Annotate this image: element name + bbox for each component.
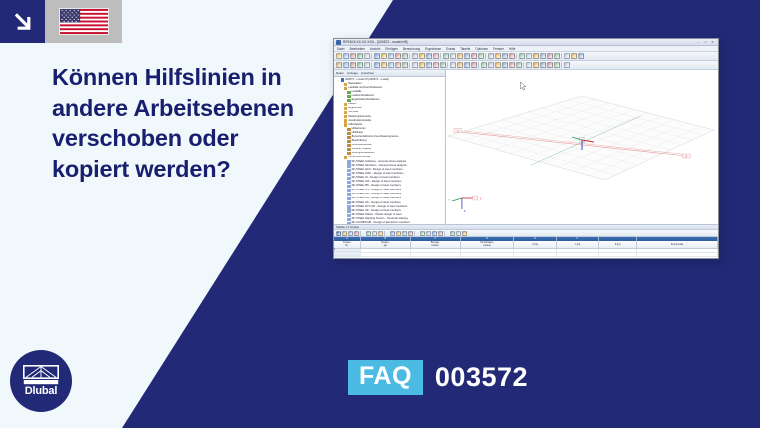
tree-node-icon (347, 136, 350, 139)
tree-node-icon (347, 185, 350, 188)
toolbar-button-3[interactable] (354, 231, 359, 236)
tree-node-icon (347, 144, 350, 147)
tree-node-label: RF-STEEL BS - Design of steel members (352, 185, 401, 188)
table-col-title-line: Z [m] (615, 244, 620, 247)
rfem-application-window: RFEM 5.XX.XX.XXX - [000572 - model.rf5] … (333, 38, 719, 259)
toolbar-button-6[interactable] (374, 62, 380, 68)
tree-node-label: ZUSATZMODULE (348, 156, 370, 159)
table-cell[interactable] (361, 253, 411, 256)
toolbar-button-14[interactable] (426, 53, 432, 59)
tree-node-label: RF-STEEL NTC-DF - Design of steel member… (352, 206, 408, 209)
toolbar-separator (516, 53, 518, 59)
tree-node-icon (347, 91, 350, 94)
menu-item-6[interactable]: Extras (446, 47, 455, 51)
arrow-badge[interactable] (0, 0, 45, 43)
toolbar-button-14[interactable] (426, 62, 432, 68)
toolbar-button-2[interactable] (350, 53, 356, 59)
toolbar-button-0[interactable] (336, 62, 342, 68)
corner-badges (0, 0, 122, 43)
toolbar-button-10[interactable] (396, 231, 401, 236)
table-col-title-line: system (483, 245, 491, 248)
minimize-button[interactable]: – (696, 40, 701, 45)
faq-number: 003572 (435, 364, 528, 391)
toolbar-separator (561, 53, 563, 59)
toolbar-button-2[interactable] (348, 231, 353, 236)
toolbar-button-30[interactable] (526, 53, 532, 59)
table-pane: Tabelle 1.1 Knoten ABCDEF KnotenNr.Knote… (334, 224, 718, 259)
toolbar-separator (447, 62, 449, 68)
toolbar-button-31[interactable] (533, 53, 539, 59)
tree-node-label: Ausdruckprotokolle (348, 120, 371, 123)
toolbar-button-19[interactable] (450, 231, 455, 236)
toolbar-button-15[interactable] (433, 62, 439, 68)
toolbar-button-7[interactable] (381, 62, 387, 68)
table-col-title-line: Kommentar (671, 244, 683, 247)
app-title-text: RFEM 5.XX.XX.XXX - [000572 - model.rf5] (343, 40, 407, 44)
toolbar-button-5[interactable] (366, 231, 371, 236)
table-col-title-line: Y [m] (575, 244, 581, 247)
toolbar-button-20[interactable] (456, 231, 461, 236)
tree-node-label: RF-STEEL Warping Torsion - Torsional war… (352, 218, 408, 221)
menu-item-8[interactable]: Optionen (475, 47, 488, 51)
toolbar-button-18[interactable] (450, 53, 456, 59)
tree-node-label: RF-STEEL SIA - Design of steel members (352, 181, 402, 184)
tree-node[interactable]: RF-ALUMINIUM - Design of aluminium membe… (335, 221, 445, 224)
tree-node-icon (347, 140, 350, 143)
tree-node-icon (347, 205, 350, 208)
toolbar-button-10[interactable] (402, 62, 408, 68)
table-cell[interactable] (361, 249, 411, 252)
tree-node-label: Hilfsobjekte (348, 124, 362, 127)
table-cell[interactable] (411, 249, 461, 252)
logo-wordmark: Dlubal (25, 386, 57, 397)
tree-node-label: Hilfsebenen (352, 128, 366, 131)
table-col-title[interactable]: Y [m] (557, 241, 599, 248)
tree-node-icon (347, 132, 350, 135)
tree-node-label: RF-STEEL AISC - Design of steel members (352, 173, 404, 176)
tree-node-label: Lastfälle und Kombinationen (348, 87, 382, 90)
toolbar-button-1[interactable] (343, 53, 349, 59)
menu-item-0[interactable]: Datei (337, 47, 344, 51)
navigator-tree: -000572 - model.rf5 [000572 - model]Basi… (334, 77, 445, 224)
menu-item-3[interactable]: Einfügen (385, 47, 398, 51)
table-cell[interactable] (637, 249, 718, 252)
tree-expander-icon[interactable]: - (340, 124, 343, 127)
table-col-title[interactable]: Kommentar (637, 241, 718, 248)
menu-item-5[interactable]: Ergebnisse (425, 47, 441, 51)
tree-node-label: RF-STEEL IS - Design of steel members (352, 177, 400, 180)
navigator-tab-0[interactable]: Daten (336, 71, 344, 75)
table-rows: 1 (334, 249, 718, 259)
toolbar-separator (371, 53, 373, 59)
table-cell[interactable] (514, 253, 556, 256)
tree-expander-icon[interactable]: - (340, 87, 343, 90)
tree-node-icon (347, 128, 350, 131)
table-cell[interactable] (461, 249, 515, 252)
tree-node-icon (347, 181, 350, 184)
toolbar-button-27[interactable] (509, 53, 515, 59)
model-viewport[interactable]: 1 2 (446, 70, 718, 224)
navigator-tab-1[interactable]: Anzeige (347, 71, 358, 75)
toolbar-button-38[interactable] (578, 53, 584, 59)
tree-node-icon (347, 95, 350, 98)
table-header-titles: KnotenNr.Knoten-typBezugs-knotenKoordina… (334, 241, 718, 249)
toolbar-separator (384, 231, 389, 236)
toolbar-button-26[interactable] (502, 53, 508, 59)
tree-node-icon (347, 197, 350, 200)
menu-item-10[interactable]: Hilfe (509, 47, 515, 51)
table-cell[interactable] (637, 253, 718, 256)
tree-node-label: RF-ALUMINIUM - Design of aluminium membe… (352, 222, 410, 224)
table-cell[interactable] (461, 257, 515, 259)
table-col-title[interactable]: Z [m] (599, 241, 637, 248)
toolbar-separator (444, 231, 449, 236)
tree-node-label: Hilfslinien (352, 132, 364, 135)
toolbar-separator (561, 62, 563, 68)
table-cell[interactable] (361, 257, 411, 259)
toolbar-separator (523, 62, 525, 68)
truss-frame-icon (23, 365, 59, 385)
tree-node-label: Lasten (348, 103, 356, 106)
toolbar-button-21[interactable] (462, 231, 467, 236)
tree-node-icon (347, 173, 350, 176)
tree-node-label: RF-STEEL Plastic - Plastic design of ste… (352, 214, 402, 217)
table-cell[interactable] (334, 257, 361, 259)
toolbar-button-21[interactable] (471, 62, 477, 68)
tree-node-label: RF-STEEL CA - Design of steel members (352, 197, 401, 200)
toolbar-separator (371, 62, 373, 68)
toolbar-separator (414, 231, 419, 236)
tree-node-icon (341, 78, 344, 81)
menu-item-4[interactable]: Berechnung (403, 47, 420, 51)
toolbar-button-6[interactable] (372, 231, 377, 236)
tree-node-icon (347, 148, 350, 151)
navigator-tabs: DatenAnzeigeAnsichten (334, 70, 445, 77)
window-buttons: – □ ✕ (696, 40, 716, 45)
toolbar-button-22[interactable] (478, 53, 484, 59)
toolbar-button-24[interactable] (488, 53, 494, 59)
menu-item-9[interactable]: Fenster (493, 47, 504, 51)
svg-text:X: X (480, 196, 482, 200)
toolbar-button-8[interactable] (388, 62, 394, 68)
tree-node-icon (344, 83, 347, 86)
dlubal-logo[interactable]: Dlubal (10, 350, 72, 412)
toolbar-button-16[interactable] (432, 231, 437, 236)
tree-node-icon (347, 164, 350, 167)
toolbar-button-21[interactable] (471, 53, 477, 59)
app-body: DatenAnzeigeAnsichten -000572 - model.rf… (334, 70, 718, 224)
table-cell[interactable] (557, 253, 599, 256)
tree-node-label: Lastfälle (352, 91, 362, 94)
toolbar-button-15[interactable] (426, 231, 431, 236)
app-toolbar-primary (334, 52, 718, 61)
page-title: Können Hilfslinien in andere Arbeitseben… (52, 62, 310, 184)
toolbar-separator (478, 62, 480, 68)
toolbar-button-4[interactable] (364, 62, 370, 68)
tree-node-label: RF-STEEL CS - Design of steel members (352, 189, 401, 192)
toolbar-button-32[interactable] (540, 62, 546, 68)
toolbar-button-34[interactable] (554, 53, 560, 59)
tree-node-icon (347, 177, 350, 180)
table-row[interactable] (334, 257, 718, 259)
toolbar-button-33[interactable] (547, 62, 553, 68)
navigator-panel: DatenAnzeigeAnsichten -000572 - model.rf… (334, 70, 446, 224)
toolbar-button-19[interactable] (457, 62, 463, 68)
table-cell[interactable] (557, 249, 599, 252)
table-col-title[interactable]: Knoten-typ (361, 241, 411, 248)
tree-node-icon (347, 201, 350, 204)
toolbar-button-20[interactable] (464, 62, 470, 68)
navigator-tab-2[interactable]: Ansichten (361, 71, 374, 75)
tree-node-icon (344, 103, 347, 106)
close-button[interactable]: ✕ (710, 40, 715, 45)
tree-node-label: RF-STEEL Surfaces - General stress analy… (352, 160, 407, 163)
arrow-down-right-icon (11, 10, 35, 34)
tree-node-icon (347, 193, 350, 196)
toolbar-button-10[interactable] (402, 53, 408, 59)
tree-node-label: RF-STEEL AS - Design of steel members (352, 201, 401, 204)
model-3d-scene: 1 2 (446, 70, 718, 224)
maximize-button[interactable]: □ (703, 40, 708, 45)
toolbar-button-3[interactable] (357, 62, 363, 68)
language-flag-badge[interactable] (45, 0, 122, 43)
menu-item-2[interactable]: Ansicht (370, 47, 380, 51)
table-col-title[interactable]: Koordinaten-system (461, 241, 515, 248)
tree-node-label: Dimensionslinien (352, 144, 372, 147)
toolbar-button-20[interactable] (464, 53, 470, 59)
menu-item-1[interactable]: Bearbeiten (349, 47, 364, 51)
table-cell[interactable] (557, 257, 599, 259)
app-toolbar-secondary (334, 61, 718, 70)
tree-node-label: Beschriftung (352, 140, 367, 143)
toolbar-button-8[interactable] (388, 53, 394, 59)
table-cell[interactable] (599, 257, 637, 259)
toolbar-button-7[interactable] (378, 231, 383, 236)
toolbar-button-4[interactable] (364, 53, 370, 59)
toolbar-button-15[interactable] (433, 53, 439, 59)
toolbar-button-9[interactable] (395, 53, 401, 59)
toolbar-button-18[interactable] (450, 62, 456, 68)
tree-node-icon (347, 160, 350, 163)
toolbar-button-36[interactable] (564, 62, 570, 68)
tree-node-label: Hintergrundebenen (352, 152, 375, 155)
table-grid[interactable]: ABCDEF KnotenNr.Knoten-typBezugs-knotenK… (334, 237, 718, 259)
tree-node-icon (347, 189, 350, 192)
tree-node-label: RF-STEEL GB - Design of steel members (352, 193, 402, 196)
toolbar-button-13[interactable] (419, 62, 425, 68)
faq-badge: FAQ (348, 360, 423, 395)
table-cell[interactable]: 1 (334, 249, 361, 252)
toolbar-button-17[interactable] (438, 231, 443, 236)
table-cell[interactable] (514, 257, 556, 259)
faq-footer: FAQ 003572 (348, 360, 528, 395)
table-col-title-line: Nr. (345, 245, 348, 248)
toolbar-button-32[interactable] (540, 53, 546, 59)
toolbar-button-25[interactable] (495, 53, 501, 59)
toolbar-button-7[interactable] (381, 53, 387, 59)
tree-node-label: Ergebniskombinationen (352, 99, 380, 102)
faq-slide: Können Hilfslinien in andere Arbeitseben… (0, 0, 760, 428)
toolbar-button-12[interactable] (408, 231, 413, 236)
tree-node-label: Mittelungsbereiche (348, 115, 371, 118)
toolbar-button-33[interactable] (547, 53, 553, 59)
toolbar-button-1[interactable] (342, 231, 347, 236)
toolbar-button-0[interactable] (336, 231, 341, 236)
tree-node-icon (344, 87, 347, 90)
tree-node-label: Benutzerdefinierte Koordinatensysteme (352, 136, 399, 139)
toolbar-button-12[interactable] (412, 53, 418, 59)
toolbar-separator (440, 53, 442, 59)
table-cell[interactable] (599, 249, 637, 252)
tree-node-icon (344, 123, 347, 126)
toolbar-button-12[interactable] (412, 62, 418, 68)
app-titlebar: RFEM 5.XX.XX.XXX - [000572 - model.rf5] … (334, 39, 718, 46)
toolbar-button-23[interactable] (481, 62, 487, 68)
table-col-title[interactable]: KnotenNr. (334, 241, 361, 248)
toolbar-button-13[interactable] (419, 53, 425, 59)
tree-node-icon (347, 214, 350, 217)
tree-node-icon (347, 222, 350, 224)
tree-node-icon (347, 218, 350, 221)
toolbar-button-37[interactable] (571, 53, 577, 59)
table-col-title-line: X [m] (532, 244, 538, 247)
toolbar-separator (485, 53, 487, 59)
toolbar-button-31[interactable] (533, 62, 539, 68)
toolbar-button-27[interactable] (509, 62, 515, 68)
tree-node-label: RF-STEEL EC3 - Design of steel members (352, 169, 403, 172)
toolbar-button-36[interactable] (564, 53, 570, 59)
toolbar-button-28[interactable] (516, 62, 522, 68)
arrow-cursor (520, 82, 525, 90)
table-cell[interactable] (599, 253, 637, 256)
tree-node-label: Lastkombinationen (352, 95, 375, 98)
tree-node-label: Basisdaten (348, 83, 361, 86)
toolbar-button-26[interactable] (502, 62, 508, 68)
toolbar-separator (360, 231, 365, 236)
toolbar-button-25[interactable] (495, 62, 501, 68)
toolbar-button-34[interactable] (554, 62, 560, 68)
tree-expander-icon[interactable]: - (337, 79, 340, 82)
toolbar-button-0[interactable] (336, 53, 342, 59)
table-col-title-line: knoten (432, 245, 439, 248)
toolbar-button-30[interactable] (526, 62, 532, 68)
toolbar-separator (409, 62, 411, 68)
toolbar-button-14[interactable] (420, 231, 425, 236)
toolbar-button-24[interactable] (488, 62, 494, 68)
tree-node-icon (347, 209, 350, 212)
toolbar-button-6[interactable] (374, 53, 380, 59)
table-cell[interactable] (411, 257, 461, 259)
app-logo-icon (336, 40, 341, 45)
toolbar-button-16[interactable] (440, 62, 446, 68)
tree-node-label: Schnitte (348, 111, 358, 114)
table-col-title[interactable]: Bezugs-knoten (411, 241, 461, 248)
table-col-title-line: typ (384, 245, 387, 248)
table-toolbar (334, 230, 718, 237)
toolbar-separator (409, 53, 411, 59)
toolbar-button-9[interactable] (395, 62, 401, 68)
table-col-title[interactable]: X [m] (514, 241, 556, 248)
tree-expander-icon[interactable]: - (340, 156, 343, 159)
table-cell[interactable] (411, 253, 461, 256)
tree-node-icon (344, 119, 347, 122)
table-cell[interactable] (514, 249, 556, 252)
toolbar-button-11[interactable] (402, 231, 407, 236)
tree-node-label: RF-STEEL SP - Design of steel members (352, 210, 401, 213)
toolbar-button-17[interactable] (443, 53, 449, 59)
us-flag-icon (59, 8, 109, 35)
tree-node-label: 000572 - model.rf5 [000572 - model] (345, 79, 388, 82)
svg-text:Y: Y (448, 198, 450, 202)
tree-node-label: RF-STEEL Members - General stress analys… (352, 165, 407, 168)
table-cell[interactable] (334, 253, 361, 256)
svg-text:Z: Z (464, 209, 466, 213)
toolbar-button-19[interactable] (457, 53, 463, 59)
menu-item-7[interactable]: Tabelle (460, 47, 470, 51)
toolbar-button-29[interactable] (519, 53, 525, 59)
table-cell[interactable] (637, 257, 718, 259)
toolbar-button-2[interactable] (350, 62, 356, 68)
table-cell[interactable] (461, 253, 515, 256)
tree-node-label: Visuelle Objekte (352, 148, 371, 151)
toolbar-button-3[interactable] (357, 53, 363, 59)
toolbar-button-1[interactable] (343, 62, 349, 68)
toolbar-button-9[interactable] (390, 231, 395, 236)
tree-node-label: Ergebnisse (348, 107, 361, 110)
tree-node-icon (347, 169, 350, 172)
